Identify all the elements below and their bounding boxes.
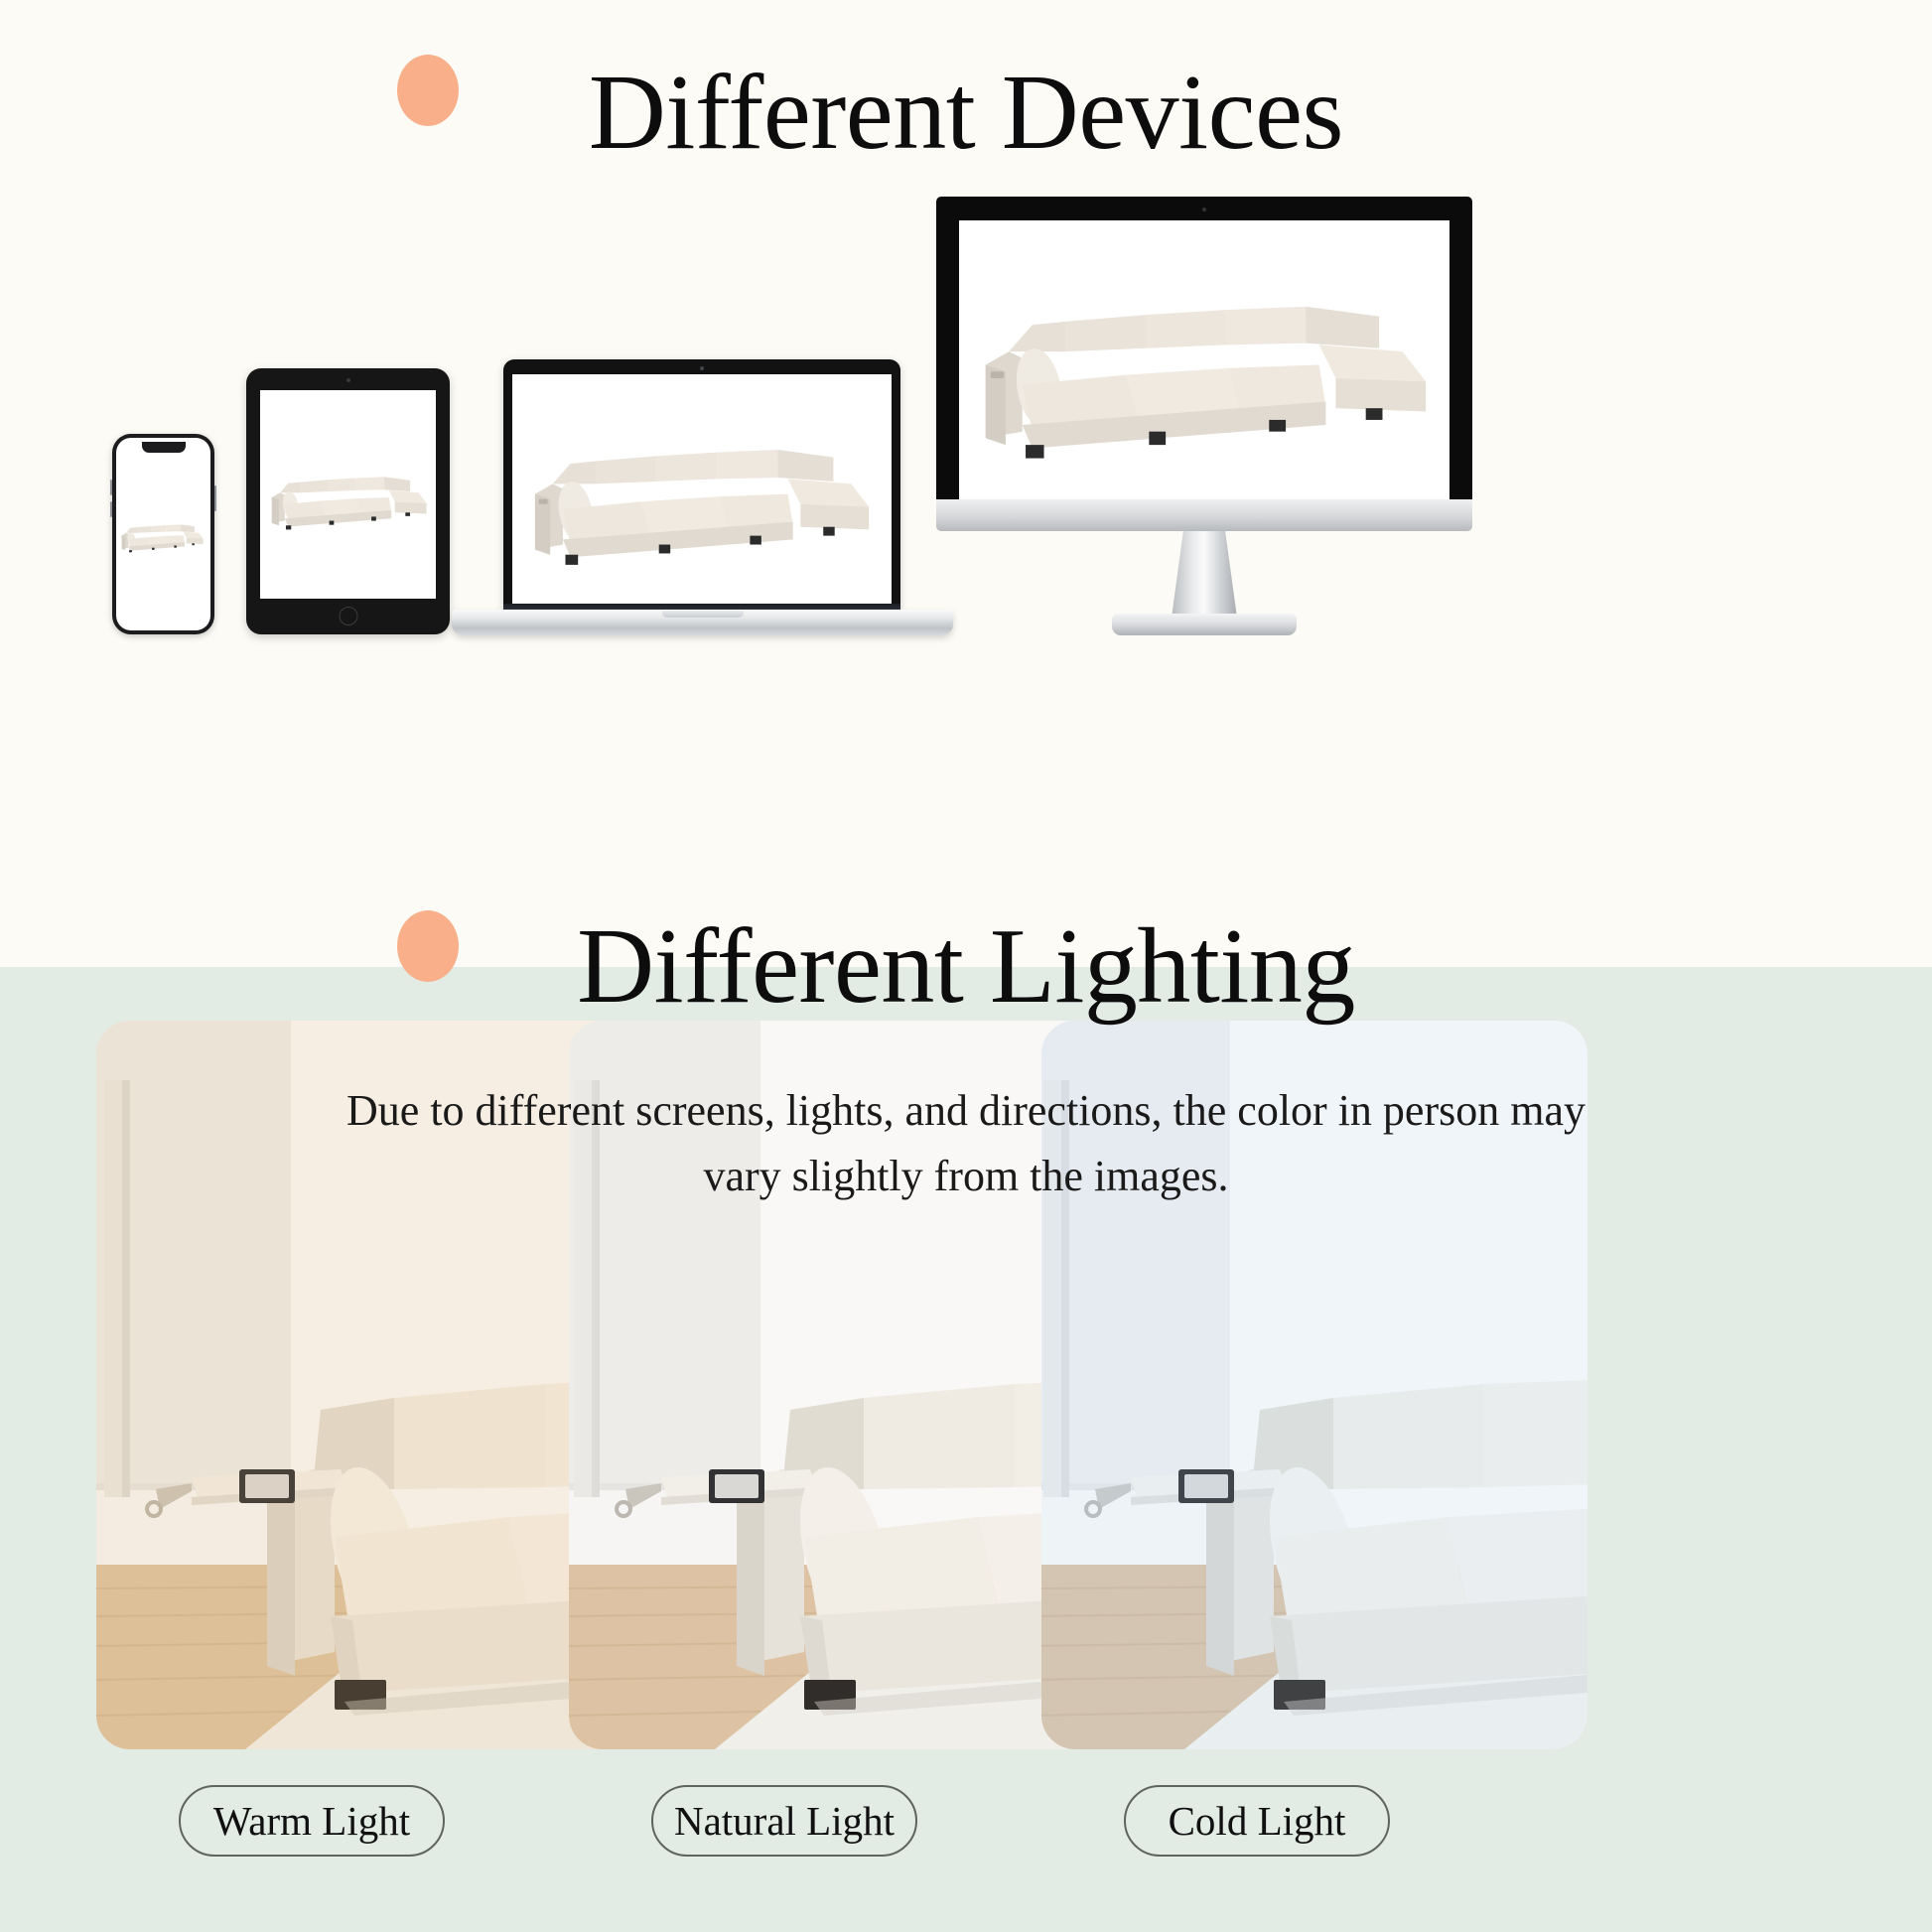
device-mockup-laptop: [452, 359, 953, 642]
monitor-stand-neck: [1172, 531, 1237, 618]
sofa-product-image-laptop: [512, 374, 892, 604]
monitor-chin: [936, 499, 1472, 531]
lighting-disclaimer-line-2: vary slightly from the images.: [0, 1144, 1932, 1209]
laptop-trackpad-notch-icon: [662, 611, 744, 618]
phone-screen: [116, 438, 210, 630]
lighting-disclaimer-line-1: Due to different screens, lights, and di…: [0, 1078, 1932, 1144]
sofa-product-image-phone: [116, 438, 210, 630]
tablet-home-button-icon: [339, 607, 357, 625]
monitor-bezel: [936, 197, 1472, 499]
phone-notch-icon: [142, 442, 186, 453]
laptop-screen: [512, 374, 892, 604]
device-mockup-monitor: [936, 197, 1472, 838]
monitor-stand-base: [1112, 614, 1297, 635]
phone-volume-up-button: [110, 480, 112, 495]
device-mockup-phone: [112, 434, 214, 634]
tablet-camera-icon: [346, 378, 350, 382]
phone-volume-down-button: [110, 501, 112, 517]
sofa-product-image-tablet: [260, 390, 436, 599]
sofa-product-image-monitor: [959, 220, 1449, 499]
section-heading-lighting: Different Lighting: [0, 913, 1932, 1021]
lighting-label-row: Warm Light Natural Light Cold Light: [0, 1785, 1932, 1884]
page-root: Different Devices: [0, 0, 1932, 1932]
monitor-screen: [959, 220, 1449, 499]
lighting-label-warm[interactable]: Warm Light: [179, 1785, 445, 1857]
laptop-lid: [503, 359, 900, 611]
tablet-screen: [260, 390, 436, 599]
monitor-camera-icon: [1202, 207, 1206, 211]
laptop-camera-icon: [700, 366, 704, 370]
device-mockup-strip: [0, 189, 1932, 884]
lighting-label-cold[interactable]: Cold Light: [1124, 1785, 1390, 1857]
section-heading-devices: Different Devices: [0, 60, 1932, 167]
lighting-disclaimer: Due to different screens, lights, and di…: [0, 1078, 1932, 1209]
phone-side-button: [214, 485, 216, 511]
lighting-label-natural[interactable]: Natural Light: [651, 1785, 917, 1857]
device-mockup-tablet: [246, 368, 450, 634]
